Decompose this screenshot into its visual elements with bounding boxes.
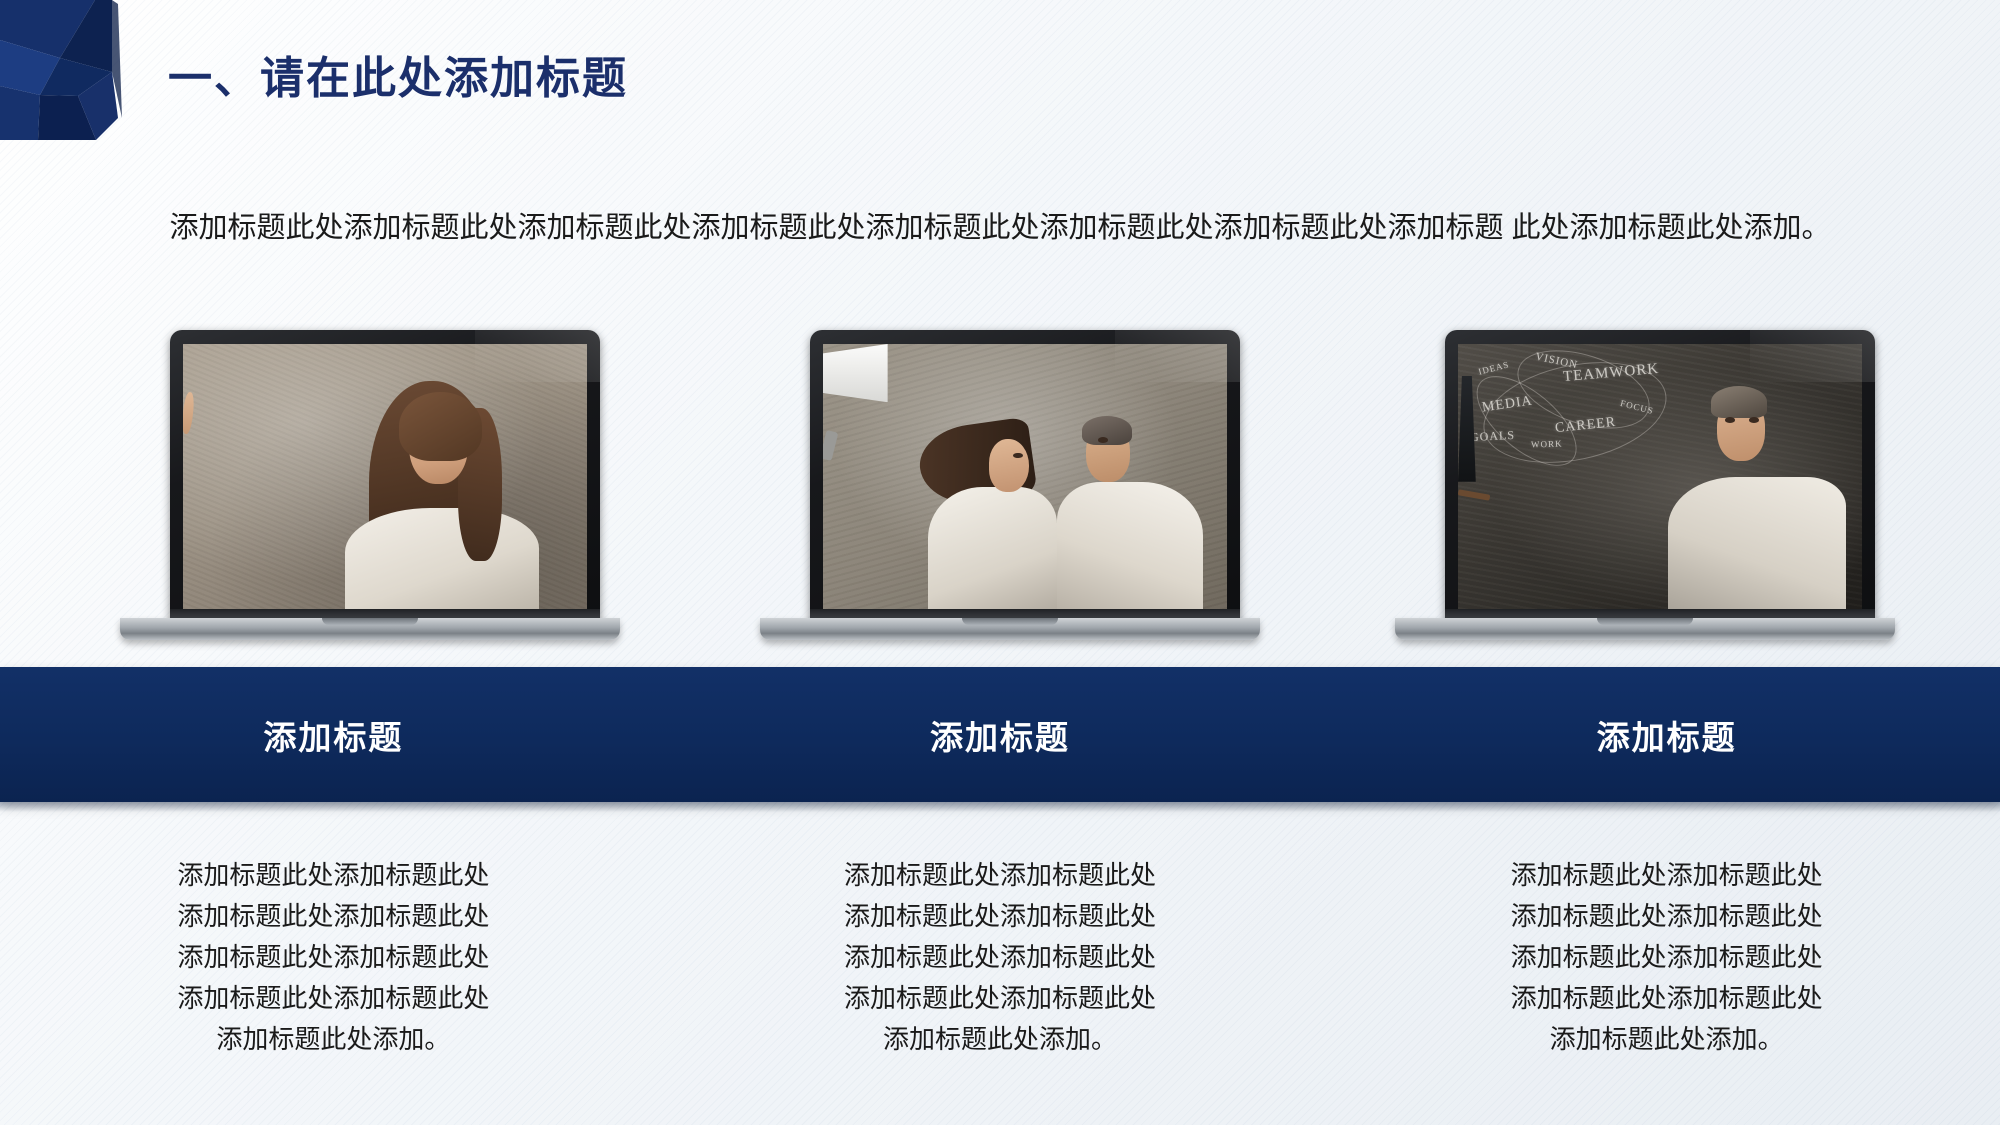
laptop-row: IDEAS MEDIA TEAMWORK GOALS VISION CAREER… [0, 330, 2000, 640]
laptop-hinge-2 [810, 609, 1240, 618]
laptop-screen-3: IDEAS MEDIA TEAMWORK GOALS VISION CAREER… [1458, 344, 1862, 609]
body-column-2: 添加标题此处添加标题此处 添加标题此处添加标题此处 添加标题此处添加标题此处 添… [667, 855, 1334, 1085]
laptop-hinge-1 [170, 609, 600, 618]
laptop-card-3[interactable]: IDEAS MEDIA TEAMWORK GOALS VISION CAREER… [1395, 330, 1895, 640]
card-heading-3: 添加标题 [1333, 667, 2000, 802]
laptop-lid-2 [810, 330, 1240, 622]
card-heading-2: 添加标题 [667, 667, 1334, 802]
woman-shushing-photo [183, 344, 587, 609]
intro-paragraph: 添加标题此处添加标题此处添加标题此处添加标题此处添加标题此处添加标题此处添加标题… [130, 205, 1870, 252]
slide-canvas: 一、请在此处添加标题 添加标题此处添加标题此处添加标题此处添加标题此处添加标题此… [0, 0, 2000, 1125]
body-line: 添加标题此处添加标题此处 [123, 855, 543, 896]
laptop-lid-1 [170, 330, 600, 622]
body-line: 添加标题此处添加标题此处 [790, 978, 1210, 1019]
laptop-hinge-3 [1445, 609, 1875, 618]
body-line: 添加标题此处添加标题此处 [123, 896, 543, 937]
corner-decoration-icon [0, 0, 150, 140]
laptop-base-1 [120, 618, 620, 640]
laptop-base-3 [1395, 618, 1895, 640]
card-heading-1: 添加标题 [0, 667, 667, 802]
body-line: 添加标题此处添加。 [1457, 1019, 1877, 1060]
laptop-screen-2 [823, 344, 1227, 609]
megaphone-argument-photo [823, 344, 1227, 609]
body-column-1: 添加标题此处添加标题此处 添加标题此处添加标题此处 添加标题此处添加标题此处 添… [0, 855, 667, 1085]
businessman-thinking-photo: IDEAS MEDIA TEAMWORK GOALS VISION CAREER… [1458, 344, 1862, 609]
body-columns: 添加标题此处添加标题此处 添加标题此处添加标题此处 添加标题此处添加标题此处 添… [0, 855, 2000, 1085]
page-title: 一、请在此处添加标题 [168, 42, 628, 106]
body-line: 添加标题此处添加标题此处 [790, 855, 1210, 896]
body-line: 添加标题此处添加。 [790, 1019, 1210, 1060]
laptop-card-2[interactable] [760, 330, 1260, 640]
body-line: 添加标题此处添加标题此处 [790, 937, 1210, 978]
intro-line-1: 添加标题此处添加标题此处添加标题此处添加标题此处添加标题此处添加标题此处添加标题… [169, 212, 1503, 244]
body-line: 添加标题此处添加标题此处 [1457, 978, 1877, 1019]
body-line: 添加标题此处添加标题此处 [1457, 855, 1877, 896]
body-line: 添加标题此处添加。 [123, 1019, 543, 1060]
chalk-word-goals: GOALS [1470, 428, 1516, 445]
body-line: 添加标题此处添加标题此处 [123, 937, 543, 978]
body-line: 添加标题此处添加标题此处 [790, 896, 1210, 937]
heading-band: 添加标题 添加标题 添加标题 [0, 667, 2000, 802]
body-line: 添加标题此处添加标题此处 [1457, 896, 1877, 937]
intro-line-2: 此处添加标题此处添加。 [1512, 212, 1831, 244]
laptop-card-1[interactable] [120, 330, 620, 640]
laptop-lid-3: IDEAS MEDIA TEAMWORK GOALS VISION CAREER… [1445, 330, 1875, 622]
laptop-screen-1 [183, 344, 587, 609]
body-line: 添加标题此处添加标题此处 [1457, 937, 1877, 978]
body-line: 添加标题此处添加标题此处 [123, 978, 543, 1019]
chalk-word-work: WORK [1531, 439, 1563, 450]
laptop-base-2 [760, 618, 1260, 640]
body-column-3: 添加标题此处添加标题此处 添加标题此处添加标题此处 添加标题此处添加标题此处 添… [1333, 855, 2000, 1085]
